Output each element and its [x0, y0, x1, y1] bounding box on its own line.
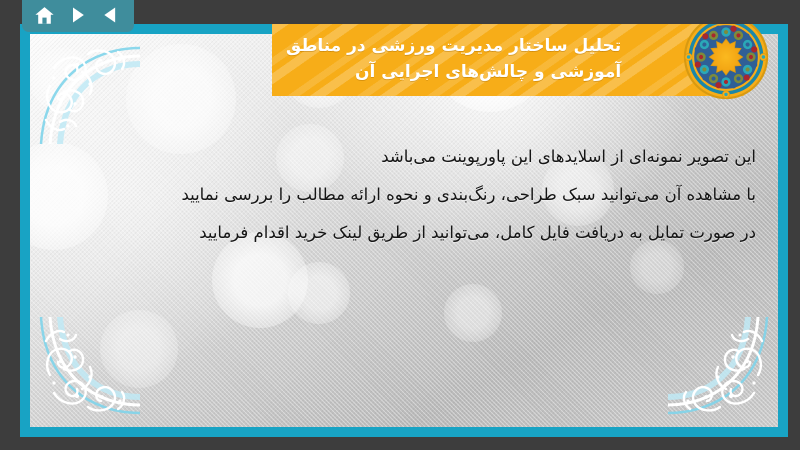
presentation-slide: این تصویر نمونه‌ای از اسلایدهای این پاور…: [20, 24, 788, 437]
bokeh-circle: [30, 48, 94, 112]
body-line: در صورت تمایل به دریافت فایل کامل، می‌تو…: [90, 214, 756, 252]
bokeh-circle: [100, 310, 178, 388]
body-line: با مشاهده آن می‌توانید سبک طراحی، رنگ‌بن…: [90, 176, 756, 214]
previous-slide-button[interactable]: [98, 3, 124, 27]
body-line: این تصویر نمونه‌ای از اسلایدهای این پاور…: [90, 138, 756, 176]
slide-body-text: این تصویر نمونه‌ای از اسلایدهای این پاور…: [90, 138, 756, 252]
slide-navigation-bar: [22, 0, 134, 32]
next-slide-button[interactable]: [65, 3, 91, 27]
persian-medallion-ornament-icon: [683, 24, 769, 100]
slide-title-band: تحلیل ساختار مدیریت ورزشی در مناطق آموزش…: [272, 24, 744, 96]
slide-title: تحلیل ساختار مدیریت ورزشی در مناطق آموزش…: [272, 24, 744, 96]
bokeh-circle: [444, 284, 502, 342]
home-button[interactable]: [32, 3, 58, 27]
slide-viewer: این تصویر نمونه‌ای از اسلایدهای این پاور…: [0, 0, 800, 450]
bokeh-circle: [288, 262, 350, 324]
